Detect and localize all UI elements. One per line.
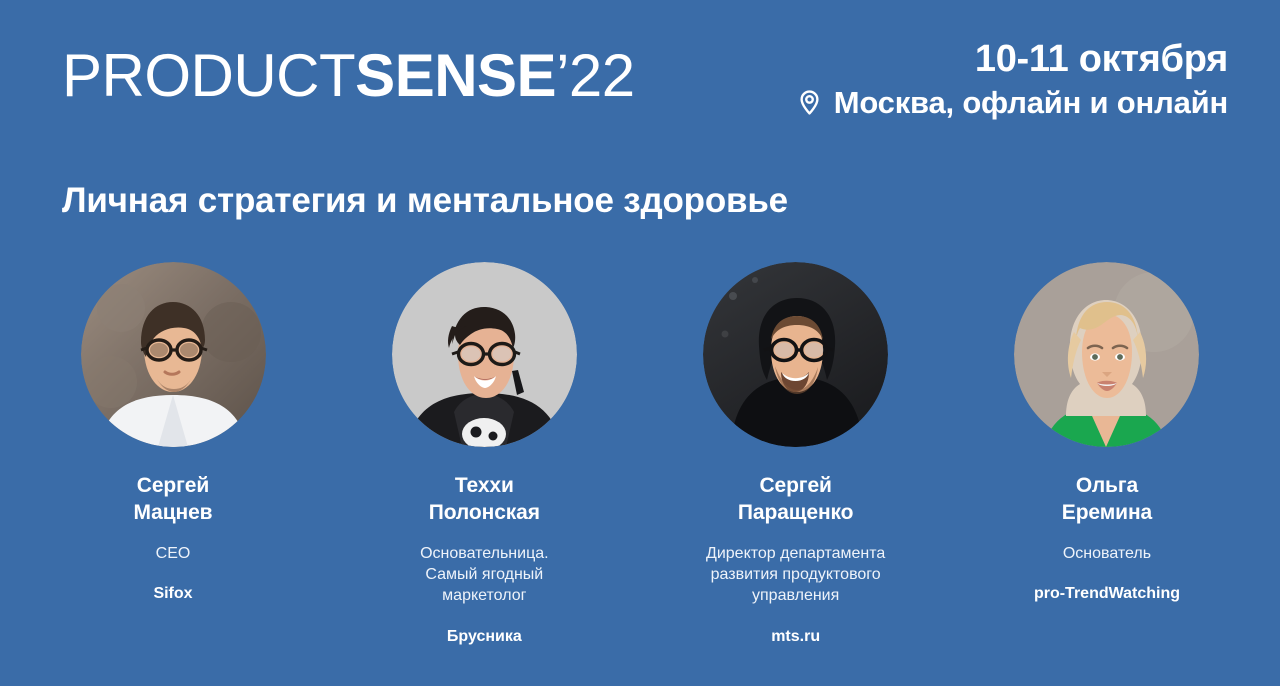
poster-header: PRODUCTSENSE’22 10-11 октября Москва, оф… bbox=[62, 40, 1228, 140]
speaker-card: Сергей Паращенко Директор департамента р… bbox=[667, 262, 925, 647]
speaker-avatar bbox=[392, 262, 577, 447]
brand-logo: PRODUCTSENSE’22 bbox=[62, 46, 635, 106]
event-location: Москва, офлайн и онлайн bbox=[834, 86, 1228, 120]
map-pin-icon bbox=[796, 89, 823, 116]
event-date: 10-11 октября bbox=[796, 40, 1228, 80]
speaker-card: Теххи Полонская Основательница. Самый яг… bbox=[355, 262, 613, 647]
speaker-role: Директор департамента развития продуктов… bbox=[706, 543, 885, 607]
logo-text-sense: SENSE bbox=[355, 42, 556, 109]
avatar-photo-sergey-parashchenko bbox=[703, 262, 888, 447]
speaker-name: Теххи Полонская bbox=[429, 473, 540, 527]
speaker-role: Основательница. Самый ягодный маркетолог bbox=[420, 543, 549, 607]
speaker-card: Ольга Еремина Основатель pro-TrendWatchi… bbox=[978, 262, 1236, 605]
avatar-photo-sergey-matsnev bbox=[81, 262, 266, 447]
conference-promo-poster: PRODUCTSENSE’22 10-11 октября Москва, оф… bbox=[0, 0, 1280, 686]
event-details: 10-11 октября Москва, офлайн и онлайн bbox=[796, 40, 1228, 120]
speaker-role: CEO bbox=[156, 543, 191, 564]
speaker-name: Ольга Еремина bbox=[1062, 473, 1152, 527]
speaker-company: pro-TrendWatching bbox=[1034, 584, 1180, 605]
speaker-name: Сергей Паращенко bbox=[738, 473, 854, 527]
logo-text-year: ’22 bbox=[556, 42, 635, 109]
logo-text-product: PRODUCT bbox=[62, 42, 355, 109]
avatar-photo-tekkhi-polonskaya bbox=[392, 262, 577, 447]
speaker-name: Сергей Мацнев bbox=[133, 473, 212, 527]
avatar-photo-olga-eremina bbox=[1014, 262, 1199, 447]
speaker-company: Брусника bbox=[447, 627, 522, 648]
speaker-company: Sifox bbox=[153, 584, 192, 605]
poster-headline: Личная стратегия и ментальное здоровье bbox=[62, 181, 788, 221]
speaker-role: Основатель bbox=[1063, 543, 1151, 564]
speaker-avatar bbox=[703, 262, 888, 447]
speaker-card: Сергей Мацнев CEO Sifox bbox=[44, 262, 302, 605]
speaker-avatar bbox=[81, 262, 266, 447]
speaker-list: Сергей Мацнев CEO Sifox bbox=[0, 262, 1280, 647]
speaker-avatar bbox=[1014, 262, 1199, 447]
event-location-row: Москва, офлайн и онлайн bbox=[796, 86, 1228, 120]
speaker-company: mts.ru bbox=[771, 627, 820, 648]
